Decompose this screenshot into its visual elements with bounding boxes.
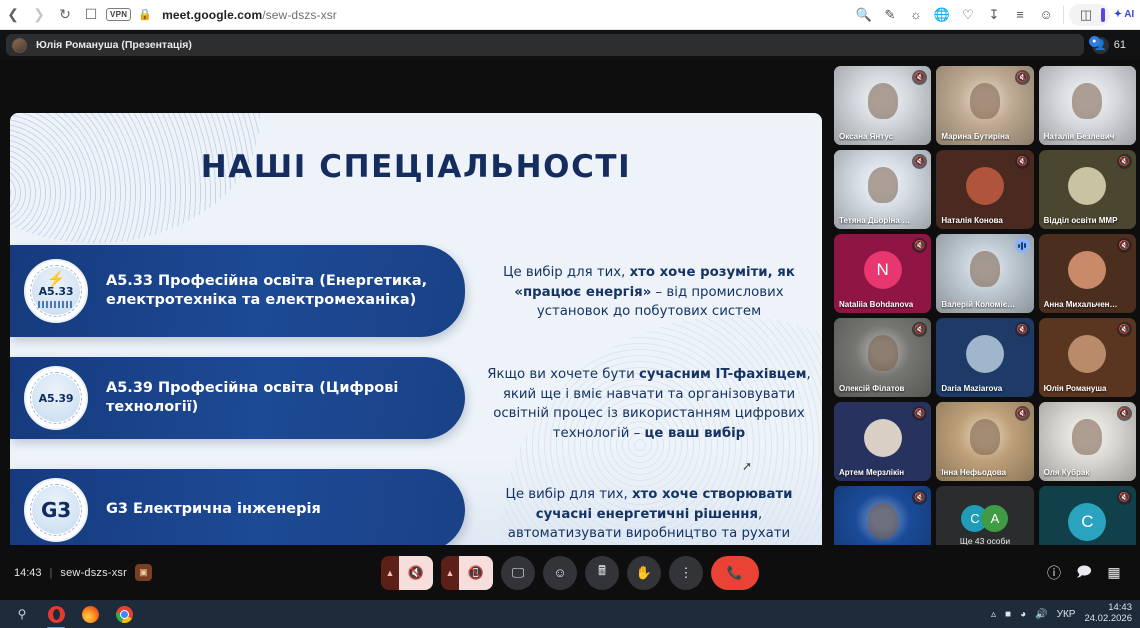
chat-bubble-icon[interactable]: 🗩 — [1074, 561, 1094, 585]
participant-name: Марина Бутиріна — [941, 132, 1015, 141]
taskbar-apps: ⚲ — [0, 604, 134, 624]
meet-info-left: 14:43 | sew-dszs-xsr ▣ — [0, 564, 290, 581]
meet-right-controls: ⓘ 🗩 ▦ — [850, 561, 1140, 585]
vpn-badge[interactable]: VPN — [106, 8, 131, 21]
people-icon: 👤● — [1092, 37, 1109, 54]
participant-tile[interactable]: 🔇Оля Кубрак — [1039, 402, 1136, 481]
avatar — [1068, 167, 1106, 205]
participant-tile[interactable]: 🔇Олексій Філатов — [834, 318, 931, 397]
mic-off-icon: 🔇 — [912, 238, 927, 253]
specialty-pill: A5.39 A5.39 Професійна освіта (Цифрові т… — [10, 357, 465, 439]
participant-tile[interactable]: Валерій Коломієць — [936, 234, 1033, 313]
extension-cube-icon[interactable]: ◫ — [1074, 3, 1098, 27]
taskbar-tray: ▵ ■ ◕ 🔊 УКР 14:43 24.02.2026 — [991, 603, 1140, 625]
clock-time: 14:43 — [1108, 602, 1132, 613]
participant-name: Артем Мерзлікін — [839, 468, 913, 477]
desc-pre: Якщо ви хочете бути — [487, 367, 639, 382]
participant-tile[interactable]: 🔇Артем Мерзлікін — [834, 402, 931, 481]
avatar: A — [981, 505, 1008, 532]
camera-toggle[interactable]: 📵 — [459, 556, 493, 590]
ai-sparkle-icon[interactable]: ✦AI — [1112, 3, 1136, 27]
participant-count[interactable]: 👤● 61 — [1092, 37, 1134, 54]
mic-off-icon: 🔇 — [1117, 406, 1132, 421]
meeting-clock: 14:43 — [14, 567, 42, 579]
mic-off-icon: 🔇 — [1117, 490, 1132, 505]
apps-grid-icon[interactable]: ▦ — [1104, 564, 1124, 581]
badge-code: G3 — [41, 498, 71, 522]
badge-bars — [38, 301, 74, 308]
camera-options-caret[interactable]: ▲ — [441, 556, 459, 590]
firefox-icon[interactable] — [80, 604, 100, 624]
mic-off-icon: 🔇 — [1015, 154, 1030, 169]
chevron-up-icon[interactable]: ▵ — [991, 609, 996, 620]
browser-toolbar-actions: 🔍 ✎ ☼ 🌐 ♡ ↧ ≡ ☺ ◫ ✦AI — [852, 3, 1140, 27]
participant-tile[interactable]: 🔇Анна Михальченко — [1039, 234, 1136, 313]
specialty-pill: ⚡ A5.33 A5.33 Професійна освіта (Енергет… — [10, 245, 465, 337]
emoji-reactions-button[interactable]: ☺ — [543, 556, 577, 590]
participant-tile[interactable]: 🔇Daria Maziarova — [936, 318, 1033, 397]
slide-title: НАШІ СПЕЦІАЛЬНОСТІ — [10, 149, 822, 185]
mic-off-icon: 🔇 — [1117, 322, 1132, 337]
participant-name: Інна Нефьодова — [941, 468, 1015, 477]
people-badge-dot: ● — [1089, 36, 1100, 47]
control-combo: ▲📵 — [441, 556, 493, 590]
participant-count-value: 61 — [1114, 39, 1126, 51]
mic-off-icon: 🔇 — [912, 154, 927, 169]
participant-tile[interactable]: Наталія Безлевич — [1039, 66, 1136, 145]
participant-name: Олексій Філатов — [839, 384, 913, 393]
specialty-pill: G3 G3 Електрична інженерія — [10, 469, 465, 551]
leave-call-button[interactable]: 📞 — [711, 556, 759, 590]
extension-pill[interactable]: ◫ — [1069, 4, 1110, 26]
mic-off-icon: 🔇 — [1015, 406, 1030, 421]
participant-tile[interactable]: 🔇Інна Нефьодова — [936, 402, 1033, 481]
participant-tile[interactable]: 🔇Наталія Конова — [936, 150, 1033, 229]
participant-name: Nataliia Bohdanova — [839, 300, 913, 309]
screen-root: ❮ ❯ ↻ ☐ VPN 🔒 meet.google.com/sew-dszs-x… — [0, 0, 1140, 628]
opera-icon[interactable] — [46, 604, 66, 624]
adjust-sliders-icon[interactable]: ≡ — [1008, 3, 1032, 27]
google-meet-window: Юлія Романуша (Презентація) 👤● 61 НАШІ С… — [0, 30, 1140, 600]
participant-name: Оксана Янтус — [839, 132, 913, 141]
participant-silhouette — [970, 251, 1000, 287]
avatar — [1068, 251, 1106, 289]
meeting-code: sew-dszs-xsr — [60, 567, 127, 579]
specialty-description: Якщо ви хочете бути сучасним IT-фахівцем… — [479, 357, 819, 444]
chrome-icon[interactable] — [114, 604, 134, 624]
participant-tile[interactable]: 🔇Тетяна Дьоріна Покр... — [834, 150, 931, 229]
specialty-row: ⚡ A5.33 A5.33 Професійна освіта (Енергет… — [10, 245, 822, 337]
avatar — [1068, 335, 1106, 373]
avatar — [966, 335, 1004, 373]
avatar: N — [864, 251, 902, 289]
search-icon[interactable]: ⚲ — [12, 604, 32, 624]
energy-bolt-badge-icon: ⚡ A5.33 — [24, 259, 88, 323]
participant-name: Daria Maziarova — [941, 384, 1015, 393]
raise-hand-button[interactable]: ✋ — [627, 556, 661, 590]
participant-silhouette — [970, 83, 1000, 119]
meet-control-bar: 14:43 | sew-dszs-xsr ▣ ▲🔇▲📵🖵☺🖩✋⋮📞 ⓘ 🗩 ▦ — [0, 545, 1140, 600]
specialty-label: G3 Електрична інженерія — [106, 500, 321, 519]
speaking-indicator-icon — [1015, 238, 1030, 253]
digital-technologies-badge-icon: A5.39 — [24, 366, 88, 430]
participant-silhouette — [868, 83, 898, 119]
volume-icon[interactable]: 🔊 — [1035, 609, 1047, 620]
more-options-button[interactable]: ⋮ — [669, 556, 703, 590]
participant-name: Оля Кубрак — [1044, 468, 1118, 477]
lock-icon[interactable]: 🔒 — [138, 8, 152, 21]
participant-tile[interactable]: N🔇Nataliia Bohdanova — [834, 234, 931, 313]
specialty-label: A5.33 Професійна освіта (Енергетика, еле… — [106, 272, 443, 311]
battery-icon[interactable]: ■ — [1005, 609, 1011, 620]
windows-taskbar: ⚲ ▵ ■ ◕ 🔊 УКР 14:43 24.02.2026 — [0, 600, 1140, 628]
desc-pre: Це вибір для тих, — [506, 487, 632, 502]
mic-off-icon: 🔇 — [1117, 238, 1132, 253]
participant-tile[interactable]: 🔇Марина Бутиріна — [936, 66, 1033, 145]
electrical-engineering-badge-icon: G3 — [24, 478, 88, 542]
participant-silhouette — [1072, 419, 1102, 455]
wifi-icon[interactable]: ◕ — [1020, 609, 1026, 620]
download-icon[interactable]: ↧ — [982, 3, 1006, 27]
url-domain: meet.google.com — [162, 8, 262, 22]
translate-icon[interactable]: 🌐 — [930, 3, 954, 27]
mic-off-icon: 🔇 — [912, 322, 927, 337]
heart-icon[interactable]: ♡ — [956, 3, 980, 27]
present-screen-button[interactable]: 🖵 — [501, 556, 535, 590]
clock-date: 24.02.2026 — [1084, 613, 1132, 624]
taskbar-clock[interactable]: 14:43 24.02.2026 — [1084, 603, 1132, 625]
presenter-name: Юлія Романуша (Презентація) — [36, 39, 192, 51]
shared-slide: НАШІ СПЕЦІАЛЬНОСТІ ⚡ A5.33 A5.33 Професі… — [10, 113, 822, 576]
desc-bold-2: це ваш вибір — [644, 426, 745, 441]
presenter-avatar — [12, 38, 27, 53]
participant-name: Наталія Конова — [941, 216, 1015, 225]
participant-name: Юлія Романуша — [1044, 384, 1118, 393]
language-indicator[interactable]: УКР — [1057, 609, 1076, 620]
mic-off-icon: 🔇 — [912, 490, 927, 505]
specialty-label: A5.39 Професійна освіта (Цифрові техноло… — [106, 379, 443, 418]
screenshot-camera-icon[interactable]: ☼ — [904, 3, 928, 27]
participant-name: Валерій Коломієць — [941, 300, 1015, 309]
participant-tile[interactable]: 🔇Юлія Романуша — [1039, 318, 1136, 397]
badge-code: A5.39 — [39, 392, 74, 405]
badge-code: A5.33 — [39, 285, 74, 298]
participant-silhouette — [970, 419, 1000, 455]
info-circle-icon[interactable]: ⓘ — [1044, 563, 1064, 583]
profile-icon[interactable]: ☺ — [1034, 3, 1058, 27]
avatar — [864, 419, 902, 457]
presentation-stage[interactable]: НАШІ СПЕЦІАЛЬНОСТІ ⚡ A5.33 A5.33 Професі… — [0, 60, 828, 575]
participant-tile[interactable]: 🔇Оксана Янтус — [834, 66, 931, 145]
participant-name: Тетяна Дьоріна Покр... — [839, 216, 913, 225]
recording-indicator-icon[interactable]: ▣ — [135, 564, 152, 581]
ai-label: AI — [1124, 9, 1134, 20]
avatar — [966, 167, 1004, 205]
mic-off-icon: 🔇 — [912, 406, 927, 421]
microphone-toggle[interactable]: 🔇 — [399, 556, 433, 590]
tab-preview-icon[interactable]: ☐ — [78, 2, 104, 28]
participant-name: Анна Михальченко — [1044, 300, 1118, 309]
desc-bold: сучасним IT-фахівцем — [639, 367, 807, 382]
presenting-banner[interactable]: Юлія Романуша (Презентація) — [6, 34, 1084, 56]
mic-off-icon: 🔇 — [1117, 154, 1132, 169]
mic-off-icon: 🔇 — [912, 70, 927, 85]
participant-tile[interactable]: 🔇Відділ освіти ММР — [1039, 150, 1136, 229]
active-indicator — [1101, 8, 1105, 22]
back-arrow-icon[interactable]: ❮ — [0, 2, 26, 28]
control-combo: ▲🔇 — [381, 556, 433, 590]
meet-header: Юлія Романуша (Презентація) 👤● 61 — [0, 30, 1140, 60]
participant-grid[interactable]: 🔇Оксана Янтус🔇Марина БутирінаНаталія Без… — [834, 66, 1136, 576]
specialty-description: Це вибір для тих, хто хоче розуміти, як … — [479, 245, 819, 322]
zoom-out-icon[interactable]: 🔍 — [852, 3, 876, 27]
mouse-cursor: ➚ — [742, 459, 750, 471]
mic-off-icon: 🔇 — [1015, 322, 1030, 337]
edit-note-icon[interactable]: ✎ — [878, 3, 902, 27]
address-bar[interactable]: meet.google.com/sew-dszs-xsr — [162, 8, 337, 22]
avatar: C — [1068, 503, 1106, 541]
overflow-avatars: CA — [961, 505, 1008, 532]
participant-name: Наталія Безлевич — [1044, 132, 1118, 141]
mic-off-icon: 🔇 — [1015, 70, 1030, 85]
reload-icon[interactable]: ↻ — [52, 2, 78, 28]
toolbar-divider — [1063, 6, 1064, 24]
participant-silhouette — [868, 503, 898, 539]
forward-arrow-icon[interactable]: ❯ — [26, 2, 52, 28]
url-path: /sew-dszs-xsr — [262, 8, 337, 22]
mic-options-caret[interactable]: ▲ — [381, 556, 399, 590]
participant-silhouette — [868, 167, 898, 203]
participant-name: Відділ освіти ММР — [1044, 216, 1118, 225]
divider: | — [50, 567, 53, 579]
participant-silhouette — [1072, 83, 1102, 119]
browser-toolbar: ❮ ❯ ↻ ☐ VPN 🔒 meet.google.com/sew-dszs-x… — [0, 0, 1140, 30]
captions-button[interactable]: 🖩 — [585, 556, 619, 590]
specialty-row: A5.39 A5.39 Професійна освіта (Цифрові т… — [10, 357, 822, 444]
meet-controls: ▲🔇▲📵🖵☺🖩✋⋮📞 — [290, 556, 850, 590]
participant-silhouette — [868, 335, 898, 371]
desc-pre: Це вибір для тих, — [503, 265, 629, 280]
